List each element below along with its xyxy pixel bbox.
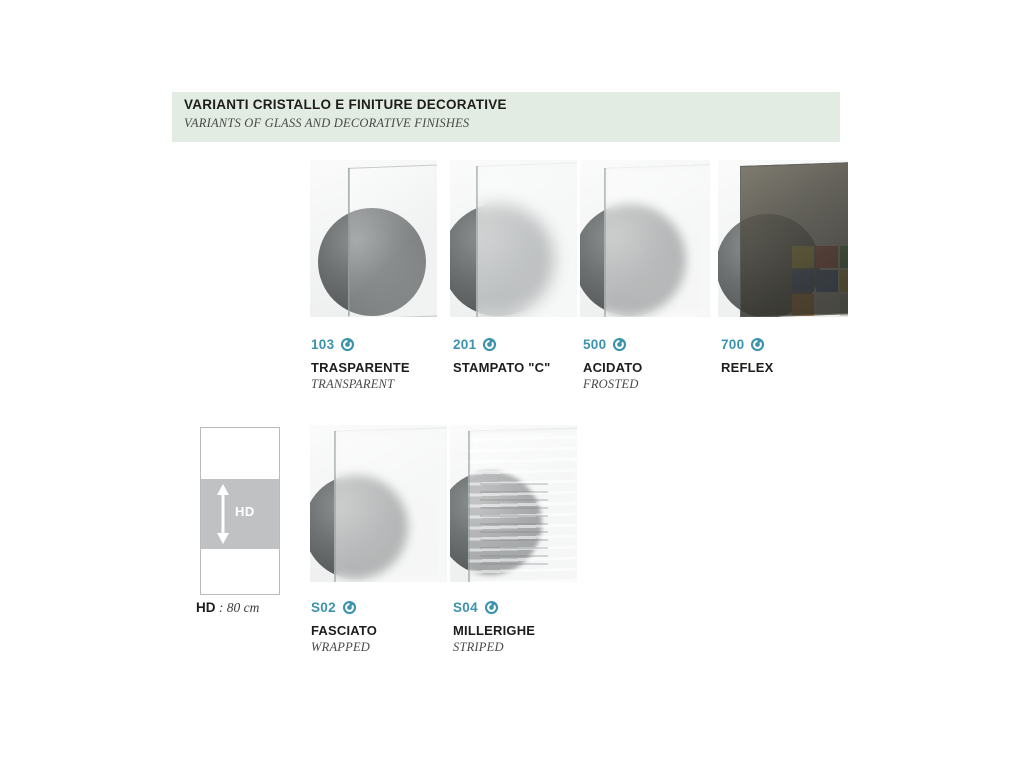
sample-label-201: 201 STAMPATO "C" [453, 336, 551, 377]
sample-image-201 [450, 160, 577, 317]
photo-patterned [450, 160, 577, 317]
c-mark-icon [482, 337, 497, 352]
c-mark-icon [612, 337, 627, 352]
double-headed-vertical-arrow-icon [216, 484, 230, 544]
sample-name-en: TRANSPARENT [311, 377, 410, 392]
hd-caption-key: HD [196, 600, 216, 615]
sample-image-103 [310, 160, 437, 317]
sample-label-S04: S04 MILLERIGHE STRIPED [453, 599, 535, 655]
sample-code: 500 [583, 337, 606, 352]
page-subtitle: VARIANTS OF GLASS AND DECORATIVE FINISHE… [184, 116, 469, 131]
sample-name-it: FASCIATO [311, 623, 377, 638]
sample-code: S02 [311, 600, 336, 615]
photo-transparent [310, 160, 437, 317]
sample-name-en: FROSTED [583, 377, 642, 392]
sample-label-500: 500 ACIDATO FROSTED [583, 336, 642, 392]
sample-name-it: STAMPATO "C" [453, 360, 551, 375]
sample-code: 201 [453, 337, 476, 352]
c-mark-icon [342, 600, 357, 615]
glass-variants-page: VARIANTI CRISTALLO E FINITURE DECORATIVE… [0, 0, 1024, 768]
sample-code: 700 [721, 337, 744, 352]
section-header-band: VARIANTI CRISTALLO E FINITURE DECORATIVE… [172, 92, 840, 142]
sample-code: S04 [453, 600, 478, 615]
sample-name-it: MILLERIGHE [453, 623, 535, 638]
hd-caption: HD : 80 cm [196, 599, 259, 617]
hd-caption-value: : 80 cm [216, 600, 260, 615]
sample-label-103: 103 TRASPARENTE TRANSPARENT [311, 336, 410, 392]
sample-name-it: ACIDATO [583, 360, 642, 375]
c-mark-icon [750, 337, 765, 352]
photo-wrapped [310, 425, 447, 582]
sample-name-it: REFLEX [721, 360, 773, 375]
c-mark-icon [484, 600, 499, 615]
sample-image-500 [580, 160, 710, 317]
sample-name-en: WRAPPED [311, 640, 377, 655]
sample-name-it: TRASPARENTE [311, 360, 410, 375]
page-title: VARIANTI CRISTALLO E FINITURE DECORATIVE [184, 97, 507, 112]
sample-label-700: 700 REFLEX [721, 336, 773, 377]
photo-frosted [580, 160, 710, 317]
sample-name-en: STRIPED [453, 640, 535, 655]
photo-reflex [718, 160, 848, 317]
sample-code: 103 [311, 337, 334, 352]
c-mark-icon [340, 337, 355, 352]
sample-image-S04 [450, 425, 577, 582]
photo-striped [450, 425, 577, 582]
hd-diagram: HD [200, 427, 280, 595]
hd-label: HD [235, 504, 255, 519]
sample-label-S02: S02 FASCIATO WRAPPED [311, 599, 377, 655]
sample-image-700 [718, 160, 848, 317]
sample-image-S02 [310, 425, 447, 582]
